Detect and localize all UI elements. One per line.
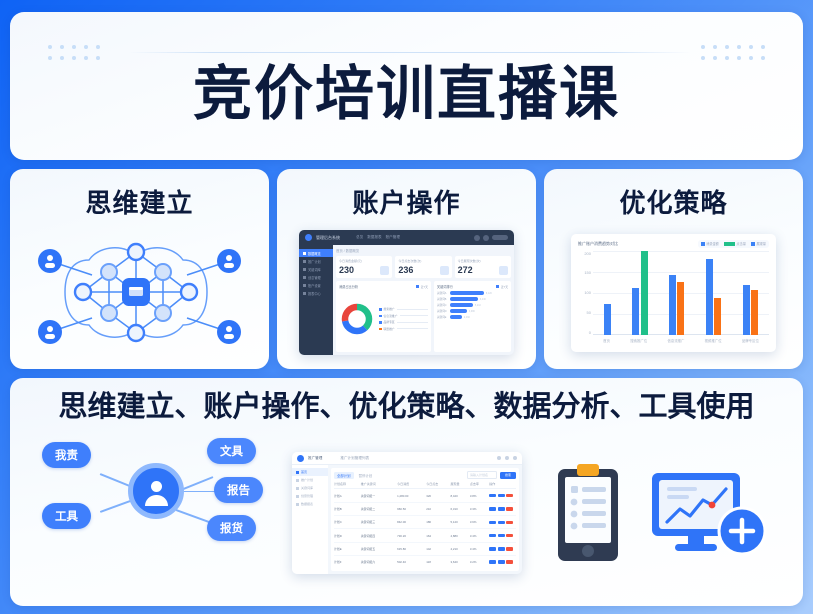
row-action-edit[interactable]	[489, 547, 496, 551]
donut-badge: 近7天	[421, 285, 428, 289]
tab-paused-plans[interactable]: 暂停计划	[359, 473, 373, 478]
column-header: 点击率	[470, 482, 489, 486]
cell: 计划E	[334, 547, 361, 551]
stat-card: 今日点击次数(次) 236	[395, 256, 451, 278]
mindmap-pill-stationery[interactable]: 文具	[207, 438, 256, 464]
column-header: 计划名称	[334, 482, 361, 486]
poster-root: 竞价培训直播课 思维建立	[0, 0, 813, 614]
row-action-delete[interactable]	[506, 507, 513, 511]
bar-value: 6,430	[480, 298, 486, 301]
header-card: 竞价培训直播课	[10, 12, 803, 160]
mindmap-pill-tools[interactable]: 工具	[42, 503, 91, 529]
stat-label: 今日点击次数(次)	[398, 259, 448, 263]
sidebar-item-label: 关键词库	[301, 486, 313, 490]
bar-label: 关键词A	[437, 291, 448, 295]
sidebar-item-label: 创意管理	[301, 494, 313, 498]
cell: 关键词组四	[361, 534, 397, 538]
table-sidebar: 首页 推广计划 关键词库 创意管理	[292, 465, 328, 574]
cell: 118	[426, 560, 450, 564]
sidebar-item-plans[interactable]: 推广计划	[292, 476, 328, 484]
sidebar-item-keywords[interactable]: 关键词库	[292, 484, 328, 492]
bar-value: 3,980	[469, 310, 475, 313]
y-tick: 50	[587, 310, 591, 315]
row-action-pause[interactable]	[498, 534, 505, 538]
x-tick: 信息流推广	[667, 338, 684, 343]
cell: 6,310	[450, 507, 469, 511]
account-chip[interactable]	[492, 235, 508, 240]
dashboard-brand: 管理后台系统	[316, 235, 340, 241]
stat-label: 今日消费金额(元)	[339, 259, 389, 263]
logo-icon	[297, 455, 304, 462]
feature-card-account-ops[interactable]: 账户操作 管理后台系统 总览 数据报表 账户管理	[277, 169, 536, 369]
bar-value: 5,210	[475, 304, 481, 307]
monitor-growth-chart-icon	[650, 467, 768, 559]
avatar[interactable]	[483, 235, 489, 241]
table-row[interactable]: 计划F 关键词组六 502.40 118 3,640 3.2%	[334, 556, 516, 568]
bars-panel-title: 关键词排行	[437, 284, 453, 289]
stat-label: 今日展现次数(次)	[458, 259, 508, 263]
summary-card: 思维建立、账户操作、优化策略、数据分析、工具使用 我责 工具 文具 报告 报货	[10, 378, 803, 606]
row-action-pause[interactable]	[498, 547, 505, 551]
row-action-delete[interactable]	[506, 534, 513, 538]
feature-cards-row: 思维建立	[10, 169, 803, 369]
legend-swatch	[724, 242, 735, 246]
legend-label: 信息流推广	[384, 314, 398, 318]
cell: 142	[426, 547, 450, 551]
stat-card: 今日展现次数(次) 272	[455, 256, 511, 278]
row-action-pause[interactable]	[498, 507, 505, 511]
cell: 320	[426, 494, 450, 498]
cell: 关键词组三	[361, 520, 397, 524]
legend-label: 点击量	[736, 241, 746, 246]
cell: 计划B	[334, 507, 361, 511]
row-action-edit[interactable]	[489, 494, 496, 498]
logo-icon	[305, 234, 312, 241]
sidebar-item-overview[interactable]: 数据概览	[299, 249, 333, 257]
network-mindmap-illustration	[20, 226, 259, 359]
legend-label: 搜索推广	[384, 307, 395, 311]
stat-card: 今日消费金额(元) 230	[336, 256, 392, 278]
table-row[interactable]: 计划B 关键词组二 960.50 210 6,310 3.3%	[334, 503, 516, 516]
cell: 3.2%	[470, 560, 489, 564]
row-action-delete[interactable]	[506, 547, 513, 551]
bar-label: 关键词B	[437, 297, 448, 301]
column-header: 展现量	[450, 482, 469, 486]
dot-grid-right-icon	[701, 45, 773, 67]
feature-card-thinking[interactable]: 思维建立	[10, 169, 269, 369]
cell: 3,640	[450, 560, 469, 564]
row-action-delete[interactable]	[506, 494, 513, 498]
cell: 3.4%	[470, 534, 489, 538]
stat-icon	[440, 266, 449, 275]
sidebar-item-label: 首页	[301, 470, 307, 474]
table-admin-mockup: 推广管理 推广计划管理列表 首页	[292, 429, 524, 598]
feature-card-title: 思维建立	[85, 183, 193, 220]
donut-panel: 消费占比分析 近7天	[336, 281, 431, 352]
sidebar-item-label: 关键词库	[308, 267, 321, 272]
chart-title: 推广账户消费趋势对比	[578, 241, 618, 247]
table-row[interactable]: 计划D 关键词组四 730.20 164 4,880 3.4%	[334, 529, 516, 542]
stat-value: 236	[398, 265, 413, 275]
sidebar-item-creatives[interactable]: 创意管理	[292, 492, 328, 500]
bar-chart-mockup: 推广账户消费趋势对比 消费金额 点击量 展现量 200 150 100	[554, 226, 793, 359]
cell: 关键词组六	[361, 560, 397, 564]
y-tick: 100	[584, 290, 591, 295]
mindmap-pill-delivery[interactable]: 报货	[207, 515, 256, 541]
logout-icon[interactable]	[513, 456, 517, 460]
mindmap-center-avatar	[128, 463, 184, 519]
row-action-pause[interactable]	[498, 521, 505, 525]
cell: 计划D	[334, 534, 361, 538]
column-header: 推广关键词	[361, 482, 397, 486]
dashboard-nav-2[interactable]: 账户管理	[386, 235, 400, 240]
breadcrumb: 首页 / 数据概览	[336, 248, 511, 253]
stat-value: 272	[458, 265, 473, 275]
cell: 3.6%	[470, 520, 489, 524]
cell: 210	[426, 507, 450, 511]
mindmap-pill-report[interactable]: 报告	[214, 477, 263, 503]
row-action-edit[interactable]	[489, 521, 496, 525]
cell: 186	[426, 520, 450, 524]
cell: 730.20	[397, 534, 426, 538]
stat-icon	[380, 266, 389, 275]
stat-value: 230	[339, 265, 354, 275]
sidebar-item-keywords[interactable]: 关键词库	[299, 265, 333, 273]
bar-label: 关键词D	[437, 309, 448, 313]
sidebar-item-label: 推广计划	[308, 259, 321, 264]
legend-swatch	[751, 242, 755, 246]
cell: 关键词组二	[361, 507, 397, 511]
bar-label: 关键词C	[437, 303, 448, 307]
page-title: 竞价培训直播课	[193, 64, 620, 123]
table-row[interactable]: 计划C 关键词组三 842.00 186 5,120 3.6%	[334, 516, 516, 529]
legend-label: 品牌专区	[384, 320, 395, 324]
row-action-edit[interactable]	[489, 560, 496, 564]
header-divider	[128, 52, 691, 53]
x-tick: 视频推广位	[705, 338, 722, 343]
row-action-pause[interactable]	[498, 494, 505, 498]
sidebar-item-label: 账户设置	[308, 283, 321, 288]
sidebar-item-plans[interactable]: 推广计划	[299, 257, 333, 265]
summary-icons	[530, 463, 789, 563]
stat-icon	[499, 266, 508, 275]
mindmap-illustration: 我责 工具 文具 报告 报货	[24, 429, 286, 598]
cell: 842.00	[397, 520, 426, 524]
gear-icon[interactable]	[497, 456, 501, 460]
y-tick: 0	[589, 330, 591, 335]
legend-label: 展现量	[756, 241, 766, 246]
summary-title: 思维建立、账户操作、优化策略、数据分析、工具使用	[24, 391, 789, 423]
cell: 502.40	[397, 560, 426, 564]
y-tick: 200	[584, 251, 591, 256]
feature-card-title: 优化策略	[619, 183, 727, 220]
bar-value: 8,120	[486, 292, 492, 295]
row-action-pause[interactable]	[498, 560, 505, 564]
dashboard-sidebar: 数据概览 推广计划 关键词库	[299, 245, 333, 355]
cell: 1,280.00	[397, 494, 426, 498]
dashboard-nav-1[interactable]: 数据报表	[367, 235, 381, 240]
dashboard-mockup: 管理后台系统 总览 数据报表 账户管理	[287, 226, 526, 359]
sidebar-item-label: 数据概览	[308, 251, 321, 256]
summary-illustrations: 我责 工具 文具 报告 报货 推广管理 推广计划管理列表	[24, 429, 789, 598]
legend-label: 联盟推广	[384, 327, 395, 331]
bars-badge: 近7天	[501, 285, 508, 289]
cell: 8,420	[450, 494, 469, 498]
legend-swatch	[701, 242, 705, 246]
x-tick: 搜索推广位	[630, 338, 647, 343]
sidebar-item-label: 报表中心	[308, 291, 321, 296]
column-header: 今日消费	[397, 482, 426, 486]
dot-grid-left-icon	[48, 45, 108, 67]
sidebar-item-label: 推广计划	[301, 478, 313, 482]
tab-all-plans[interactable]: 全部计划	[334, 472, 354, 479]
sidebar-item-reports[interactable]: 数据报表	[292, 500, 328, 508]
y-tick: 150	[584, 270, 591, 275]
bar-label: 关键词E	[437, 315, 448, 319]
table-row[interactable]: 计划E 关键词组五 615.80 142 4,210 3.4%	[334, 543, 516, 556]
x-tick: 品牌专区位	[742, 338, 759, 343]
bars-panel: 关键词排行 近7天 关键词A8,120 关键词B6,430 关键词C5,210 …	[434, 281, 511, 352]
column-header: 操作	[489, 482, 516, 486]
mindmap-pill-duty[interactable]: 我责	[42, 442, 91, 468]
table-brand: 推广管理	[308, 456, 322, 461]
cell: 615.80	[397, 547, 426, 551]
row-action-delete[interactable]	[506, 521, 513, 525]
cell: 3.8%	[470, 494, 489, 498]
sidebar-item-label: 数据报表	[301, 502, 313, 506]
cell: 关键词组五	[361, 547, 397, 551]
bell-icon[interactable]	[474, 235, 480, 241]
cell: 关键词组一	[361, 494, 397, 498]
cell: 3.3%	[470, 507, 489, 511]
cell: 计划A	[334, 494, 361, 498]
search-button[interactable]: 搜索	[500, 472, 516, 479]
table-header-row: 计划名称 推广关键词 今日消费 今日点击 展现量 点击率 操作	[334, 482, 516, 489]
bar-value: 2,460	[464, 316, 470, 319]
sidebar-item-creatives[interactable]: 创意管理	[299, 273, 333, 281]
row-action-delete[interactable]	[506, 560, 513, 564]
sidebar-item-home[interactable]: 首页	[292, 468, 328, 476]
x-tick: 首页	[603, 338, 610, 343]
cell: 164	[426, 534, 450, 538]
chart-legend: 消费金额 点击量 展现量	[698, 240, 769, 248]
table-row[interactable]: 计划A 关键词组一 1,280.00 320 8,420 3.8%	[334, 489, 516, 502]
search-input[interactable]: 请输入计划名	[467, 471, 497, 479]
sidebar-item-label: 创意管理	[308, 275, 321, 280]
cell: 3.4%	[470, 547, 489, 551]
sidebar-item-settings[interactable]: 账户设置	[299, 281, 333, 289]
bell-icon[interactable]	[505, 456, 509, 460]
table-top-title: 推广计划管理列表	[340, 456, 369, 461]
cell: 960.50	[397, 507, 426, 511]
row-action-edit[interactable]	[489, 507, 496, 511]
feature-card-optimization[interactable]: 优化策略 推广账户消费趋势对比 消费金额 点击量 展现量 20	[544, 169, 803, 369]
clipboard-checklist-icon	[552, 463, 624, 563]
sidebar-item-reports[interactable]: 报表中心	[299, 289, 333, 297]
cell: 5,120	[450, 520, 469, 524]
cell: 计划C	[334, 520, 361, 524]
dashboard-nav-0[interactable]: 总览	[356, 235, 363, 240]
row-action-edit[interactable]	[489, 534, 496, 538]
legend-label: 消费金额	[706, 241, 719, 246]
cell: 4,210	[450, 547, 469, 551]
cell: 4,880	[450, 534, 469, 538]
donut-chart	[339, 301, 375, 337]
feature-card-title: 账户操作	[352, 183, 460, 220]
column-header: 今日点击	[426, 482, 450, 486]
cell: 计划F	[334, 560, 361, 564]
